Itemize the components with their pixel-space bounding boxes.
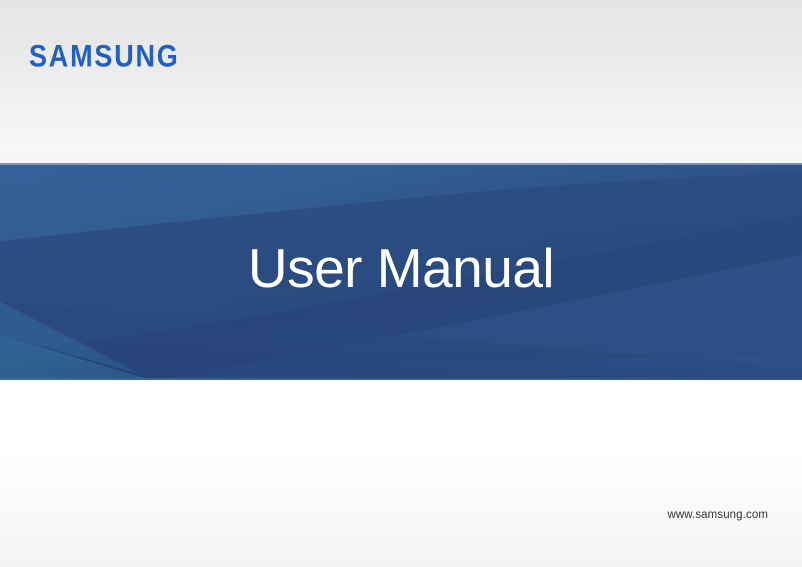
hero-banner: User Manual (0, 163, 802, 380)
footer-area: www.samsung.com (0, 380, 802, 567)
header-band: SAMSUNG (0, 0, 802, 163)
manual-cover-page: SAMSUNG (0, 0, 802, 567)
page-title-text: User Manual (248, 241, 554, 296)
website-url[interactable]: www.samsung.com (667, 509, 768, 521)
page-title: User Manual (0, 163, 802, 380)
samsung-logo: SAMSUNG (29, 41, 180, 73)
